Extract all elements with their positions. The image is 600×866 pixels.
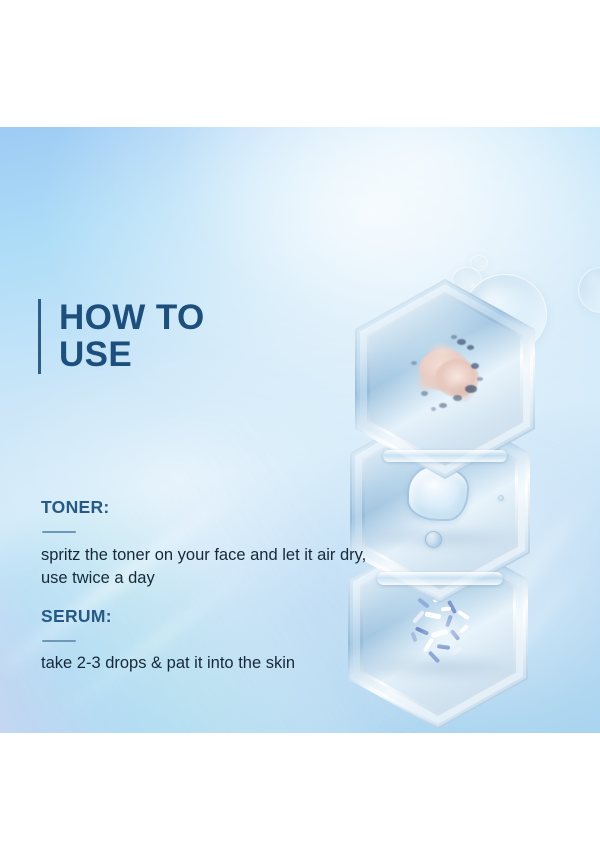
divider-toner [42,531,76,533]
headline-line-1: HOW TO [59,298,205,337]
hexagon-dish-powder [355,279,535,479]
page-title: HOW TO USE [38,299,205,374]
powder-content [405,333,491,415]
dish-shadow [352,655,524,679]
step-label-toner: TONER: [41,497,110,518]
step-body-serum: take 2-3 drops & pat it into the skin [41,652,371,675]
dish-lip-highlight [383,450,507,462]
step-body-toner: spritz the toner on your face and let it… [41,544,371,591]
divider-serum [42,640,76,642]
step-label-serum: SERUM: [41,606,112,627]
water-bubble-edge-icon [578,267,600,313]
serum-droplet-small [498,495,504,501]
dish-lip-highlight [377,572,503,585]
page-root: HOW TO USE TONER: spritz the toner on yo… [0,0,600,866]
dish-shadow [358,527,524,549]
headline-line-2: USE [59,336,205,373]
how-to-use-banner: HOW TO USE TONER: spritz the toner on yo… [0,127,600,733]
